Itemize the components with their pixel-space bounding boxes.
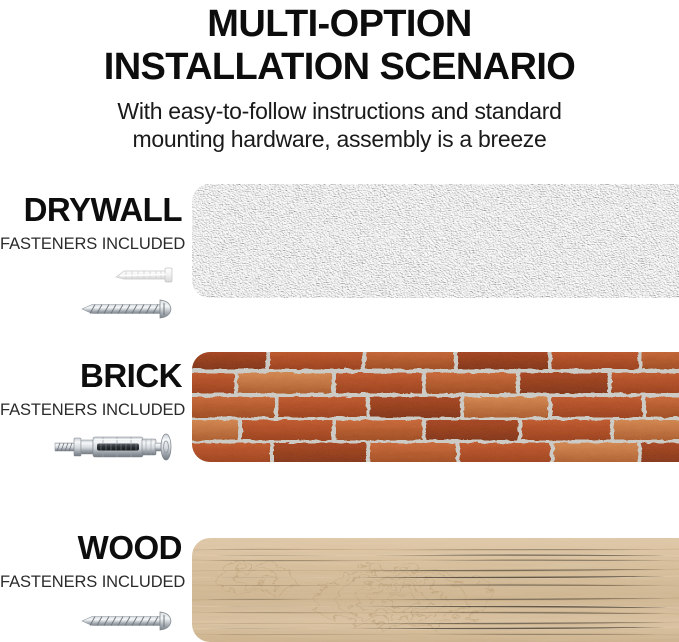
header-block: MULTI-OPTION INSTALLATION SCENARIO With … — [0, 2, 679, 153]
subheadline-line-1: With easy-to-follow instructions and sta… — [0, 97, 679, 125]
brick-texture — [192, 352, 679, 462]
brick-fasteners-note: FASTENERS INCLUDED — [0, 400, 182, 420]
sleeve-anchor-bolt-icon — [51, 426, 176, 468]
infographic-page: MULTI-OPTION INSTALLATION SCENARIO With … — [0, 0, 679, 642]
drywall-texture — [192, 184, 679, 298]
brick-hardware-group — [0, 426, 182, 468]
wood-fasteners-note: FASTENERS INCLUDED — [0, 572, 182, 592]
drywall-hardware-group — [0, 258, 182, 326]
wood-title: WOOD — [0, 530, 182, 566]
wood-label-group: WOOD FASTENERS INCLUDED — [0, 530, 182, 592]
brick-texture-panel — [192, 352, 679, 462]
wood-screw-icon — [78, 604, 176, 638]
wood-texture-panel — [192, 538, 679, 642]
screw-icon — [78, 292, 176, 326]
drywall-title: DRYWALL — [0, 192, 182, 228]
drywall-label-group: DRYWALL FASTENERS INCLUDED — [0, 192, 182, 254]
drywall-fasteners-note: FASTENERS INCLUDED — [0, 234, 182, 254]
drywall-texture-panel — [192, 184, 679, 298]
wall-anchor-icon — [110, 258, 182, 292]
headline-line-2: INSTALLATION SCENARIO — [0, 46, 679, 89]
brick-label-group: BRICK FASTENERS INCLUDED — [0, 358, 182, 420]
subheadline-line-2: mounting hardware, assembly is a breeze — [0, 125, 679, 153]
headline-line-1: MULTI-OPTION — [0, 3, 679, 46]
wood-hardware-group — [0, 604, 182, 638]
brick-title: BRICK — [0, 358, 182, 394]
wood-texture — [192, 538, 679, 642]
